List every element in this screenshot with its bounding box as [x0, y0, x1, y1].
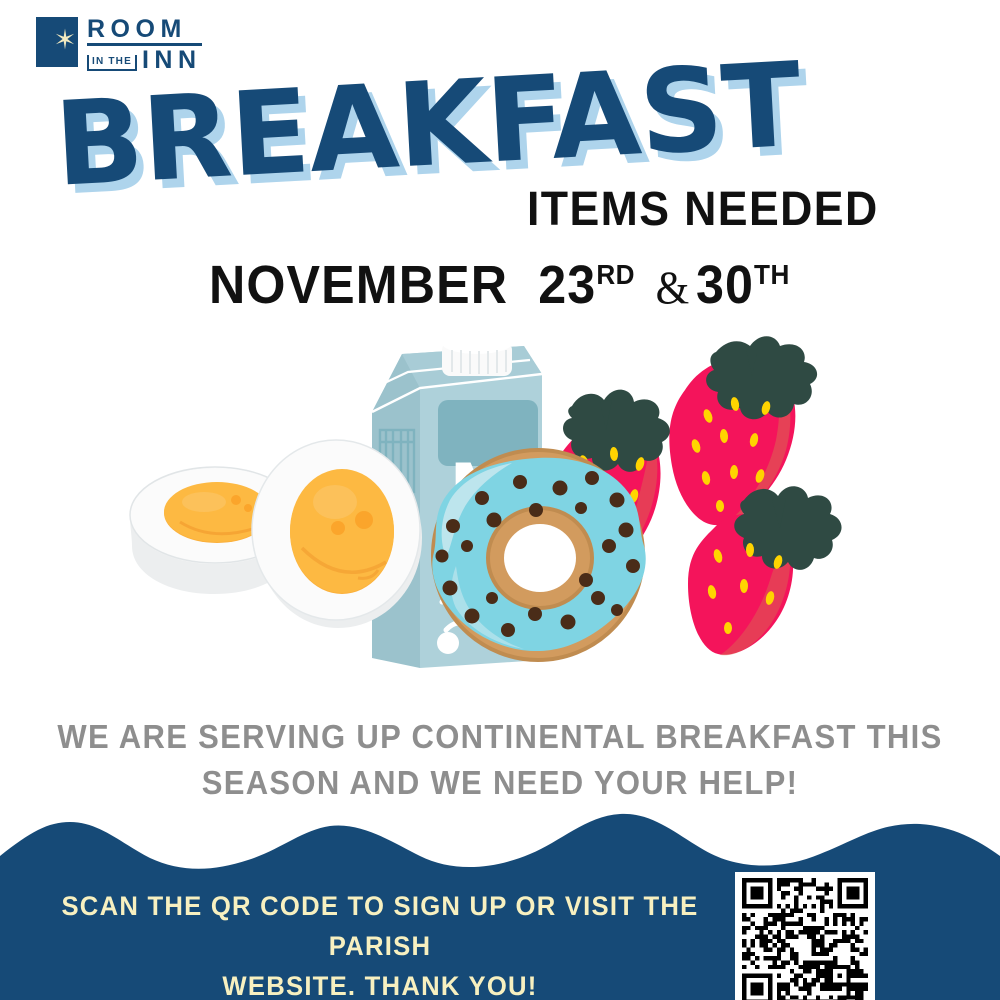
- body-copy-line-2: SEASON AND WE NEED YOUR HELP!: [30, 760, 970, 806]
- date-first-ordinal: RD: [596, 259, 635, 290]
- headline-breakfast: BREAKFAST: [52, 48, 803, 204]
- star-icon: [54, 28, 76, 50]
- date-second-number: 30: [696, 255, 754, 315]
- boiled-egg-icon: [252, 440, 422, 628]
- footer-copy: SCAN THE QR CODE TO SIGN UP OR VISIT THE…: [40, 886, 720, 1000]
- body-copy: WE ARE SERVING UP CONTINENTAL BREAKFAST …: [0, 714, 1000, 806]
- body-copy-line-1: WE ARE SERVING UP CONTINENTAL BREAKFAST …: [30, 714, 970, 760]
- date-line: NOVEMBER 23RD &30TH: [209, 248, 790, 316]
- headline-breakfast-text: BREAKFAST: [52, 48, 803, 204]
- room-in-the-inn-logo: ROOM IN THE INN: [36, 17, 202, 72]
- donut-icon: [432, 450, 645, 660]
- footer-copy-line-2: WEBSITE. THANK YOU!: [57, 966, 703, 1000]
- flyer-canvas: ROOM IN THE INN BREAKFAST ITEMS NEEDED N…: [0, 0, 1000, 1000]
- subheading-items-needed: ITEMS NEEDED: [527, 186, 879, 234]
- logo-wordmark: ROOM IN THE INN: [87, 17, 202, 72]
- date-second-ordinal: TH: [754, 259, 790, 290]
- breakfast-food-illustration: Milk: [120, 330, 840, 690]
- qr-code[interactable]: [735, 872, 875, 1000]
- footer-copy-line-1: SCAN THE QR CODE TO SIGN UP OR VISIT THE…: [57, 886, 703, 966]
- logo-in-the-text: IN THE: [87, 55, 137, 71]
- date-conjunction: &: [650, 263, 696, 314]
- qr-code-graphic[interactable]: [741, 878, 869, 1000]
- date-first-number: 23: [538, 255, 596, 315]
- logo-square-mark: [36, 17, 78, 67]
- logo-room-text: ROOM: [87, 17, 202, 46]
- milk-cap: [442, 332, 512, 376]
- logo-inn-text: INN: [142, 48, 202, 72]
- date-month: NOVEMBER: [209, 255, 508, 315]
